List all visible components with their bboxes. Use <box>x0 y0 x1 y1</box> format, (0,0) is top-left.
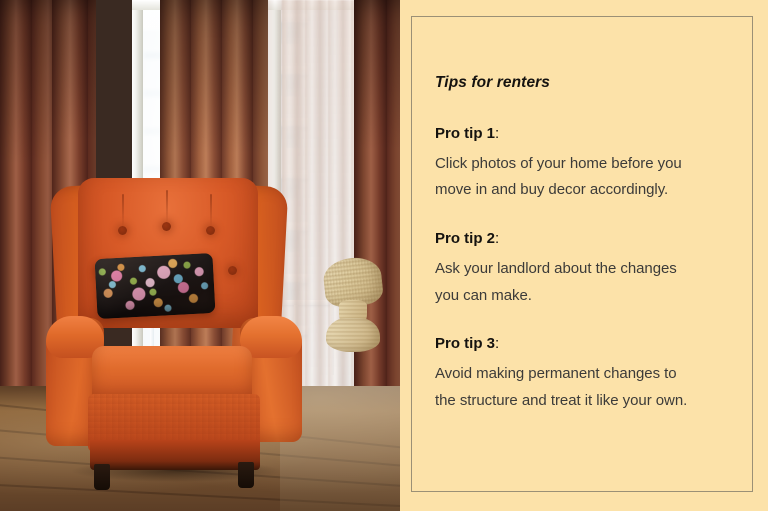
tips-content: Tips for renters Pro tip 1: Click photos… <box>435 74 742 414</box>
tip-2-colon: : <box>495 230 499 247</box>
orange-armchair <box>40 178 308 474</box>
chair-leg-left <box>94 464 110 490</box>
tip-block-3: Pro tip 3: Avoid making permanent change… <box>435 335 742 414</box>
tips-panel: Tips for renters Pro tip 1: Click photos… <box>400 0 768 511</box>
tip-3-line-1: Avoid making permanent changes to <box>435 361 742 388</box>
tip-2-body: Ask your landlord about the changes you … <box>435 256 742 309</box>
panel-heading: Tips for renters <box>435 74 742 92</box>
tip-1-line-2: move in and buy decor accordingly. <box>435 177 742 204</box>
renter-tips-graphic: Tips for renters Pro tip 1: Click photos… <box>0 0 768 511</box>
tip-2-label-text: Pro tip 2 <box>435 230 495 247</box>
chair-skirt <box>90 440 260 470</box>
tip-3-line-2: the structure and treat it like your own… <box>435 388 742 415</box>
drape-right <box>354 0 400 430</box>
tip-1-body: Click photos of your home before you mov… <box>435 151 742 204</box>
tip-3-colon: : <box>495 335 499 352</box>
tip-block-1: Pro tip 1: Click photos of your home bef… <box>435 125 742 204</box>
tip-3-label-text: Pro tip 3 <box>435 335 495 352</box>
tip-1-label: Pro tip 1: <box>435 125 742 144</box>
tip-3-label: Pro tip 3: <box>435 335 742 354</box>
tip-1-label-text: Pro tip 1 <box>435 125 495 142</box>
tip-1-colon: : <box>495 125 499 142</box>
tip-1-line-1: Click photos of your home before you <box>435 151 742 178</box>
tip-2-label: Pro tip 2: <box>435 230 742 249</box>
tip-2-line-1: Ask your landlord about the changes <box>435 256 742 283</box>
chair-leg-right <box>238 462 254 488</box>
floral-pillow <box>95 253 216 319</box>
tip-3-body: Avoid making permanent changes to the st… <box>435 361 742 414</box>
tip-block-2: Pro tip 2: Ask your landlord about the c… <box>435 230 742 309</box>
rattan-stool <box>322 258 384 354</box>
tip-2-line-2: you can make. <box>435 283 742 310</box>
interior-photo <box>0 0 400 511</box>
